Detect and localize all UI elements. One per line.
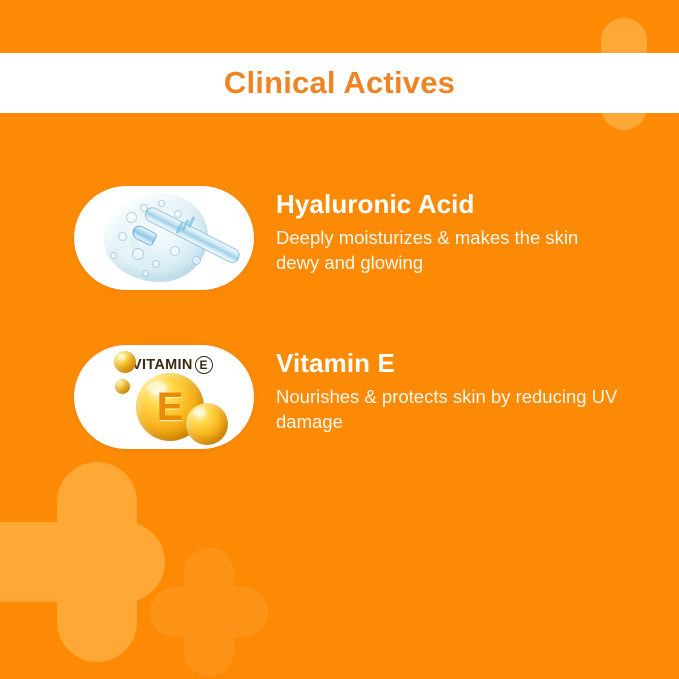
vitamin-droplet-right: [186, 403, 228, 445]
cross-vertical-bar: [57, 462, 137, 662]
feature-title: Vitamin E: [276, 347, 626, 379]
feature-title: Hyaluronic Acid: [276, 188, 626, 220]
gel-bubble: [142, 270, 149, 277]
gel-bubble: [132, 248, 144, 260]
vitamin-droplet-tiny: [115, 379, 130, 394]
feature-description: Deeply moisturizes & makes the skin dewy…: [276, 225, 626, 275]
circled-e-mark: E: [195, 356, 213, 374]
decorative-cross-bottom-left: [0, 462, 195, 679]
decorative-cross-small: [150, 548, 268, 676]
title-banner: Clinical Actives: [0, 53, 679, 113]
vitamin-e-image-card: VITAMIN E E: [74, 345, 254, 449]
gel-bubble: [158, 200, 165, 207]
vitamin-droplet-small: [114, 351, 136, 373]
droplet-gloss: [118, 354, 126, 360]
gel-bubble: [152, 260, 160, 268]
droplet-gloss: [193, 408, 206, 417]
gel-bubble: [110, 252, 117, 259]
product-benefits-infographic: Clinical Actives: [0, 0, 679, 679]
gel-bubble: [126, 212, 137, 223]
page-title: Clinical Actives: [224, 65, 455, 101]
gel-bubble: [118, 232, 127, 241]
feature-text-block: Vitamin E Nourishes & protects skin by r…: [276, 345, 626, 434]
cross-horizontal-bar: [0, 522, 165, 602]
gel-bubble: [192, 256, 201, 265]
vitamin-e-label: VITAMIN E: [132, 356, 213, 374]
vitamin-e-golden-droplets-image: VITAMIN E E: [74, 345, 254, 449]
feature-description: Nourishes & protects skin by reducing UV…: [276, 384, 626, 434]
gel-bubble: [170, 246, 180, 256]
hyaluronic-acid-gel-pipette-image: [74, 186, 254, 290]
feature-text-block: Hyaluronic Acid Deeply moisturizes & mak…: [276, 186, 626, 275]
feature-row: Hyaluronic Acid Deeply moisturizes & mak…: [0, 186, 679, 290]
gel-bubble: [174, 210, 182, 218]
feature-row: VITAMIN E E Vit: [0, 345, 679, 449]
cross-small-vertical-bar: [184, 548, 234, 676]
vitamin-label-text: VITAMIN: [132, 357, 193, 373]
hyaluronic-acid-image-card: [74, 186, 254, 290]
cross-small-horizontal-bar: [150, 587, 268, 637]
